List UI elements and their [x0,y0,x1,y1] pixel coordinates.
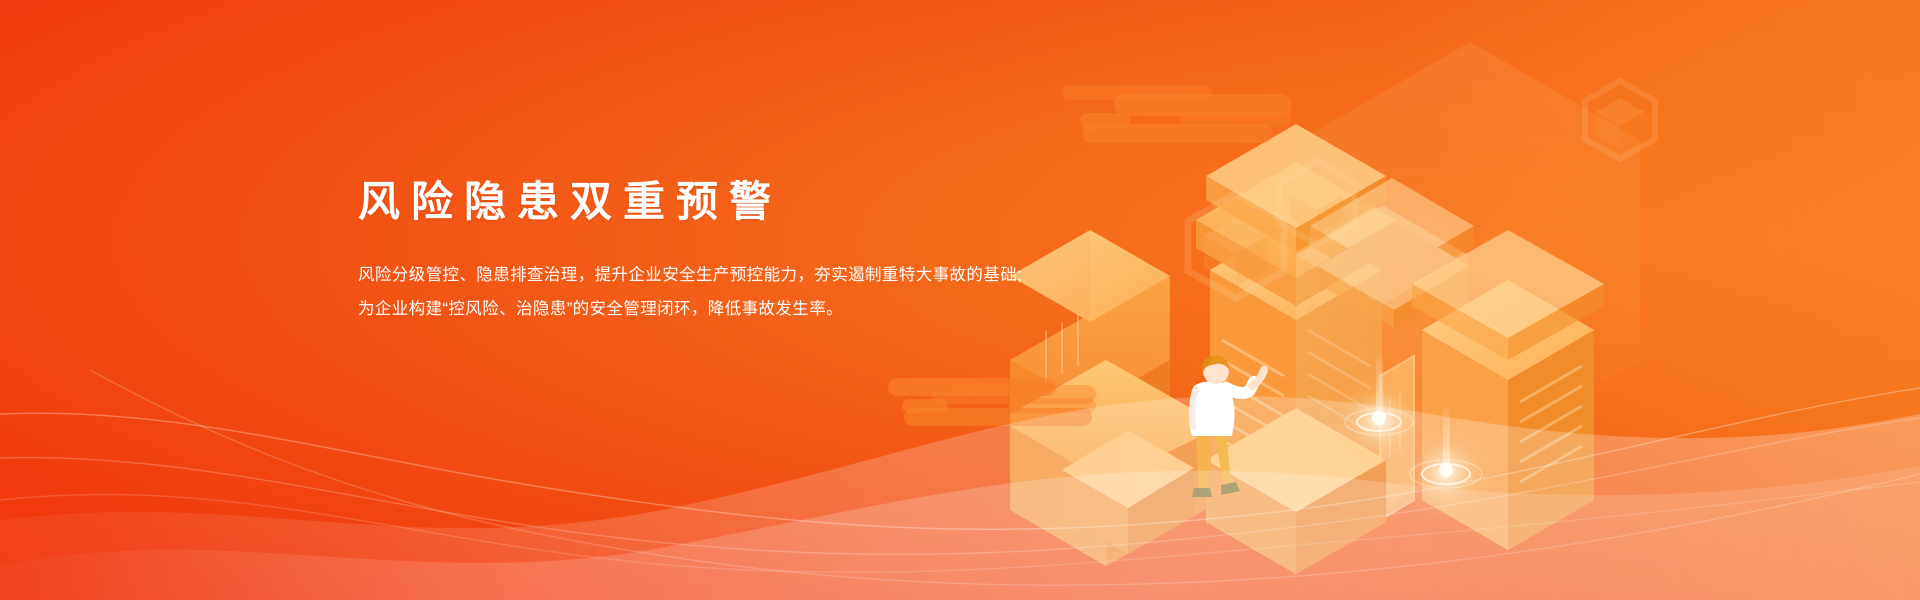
banner-copy: 风险隐患双重预警 风险分级管控、隐患排查治理，提升企业安全生产预控能力，夯实遏制… [358,178,998,326]
page-title: 风险隐患双重预警 [358,178,998,226]
person-shoe-left [1192,488,1212,497]
promo-banner: 风险隐患双重预警 风险分级管控、隐患排查治理，提升企业安全生产预控能力，夯实遏制… [0,0,1920,600]
subcopy-line-1: 风险分级管控、隐患排查治理，提升企业安全生产预控能力，夯实遏制重特大事故的基础; [358,258,998,292]
isometric-illustration [1010,30,1710,590]
illustration-svg [1010,30,1710,590]
banner-subcopy: 风险分级管控、隐患排查治理，提升企业安全生产预控能力，夯实遏制重特大事故的基础;… [358,258,998,326]
cloud-bar [902,399,948,413]
subcopy-line-2: 为企业构建“控风险、治隐患”的安全管理闭环，降低事故发生率。 [358,292,998,326]
